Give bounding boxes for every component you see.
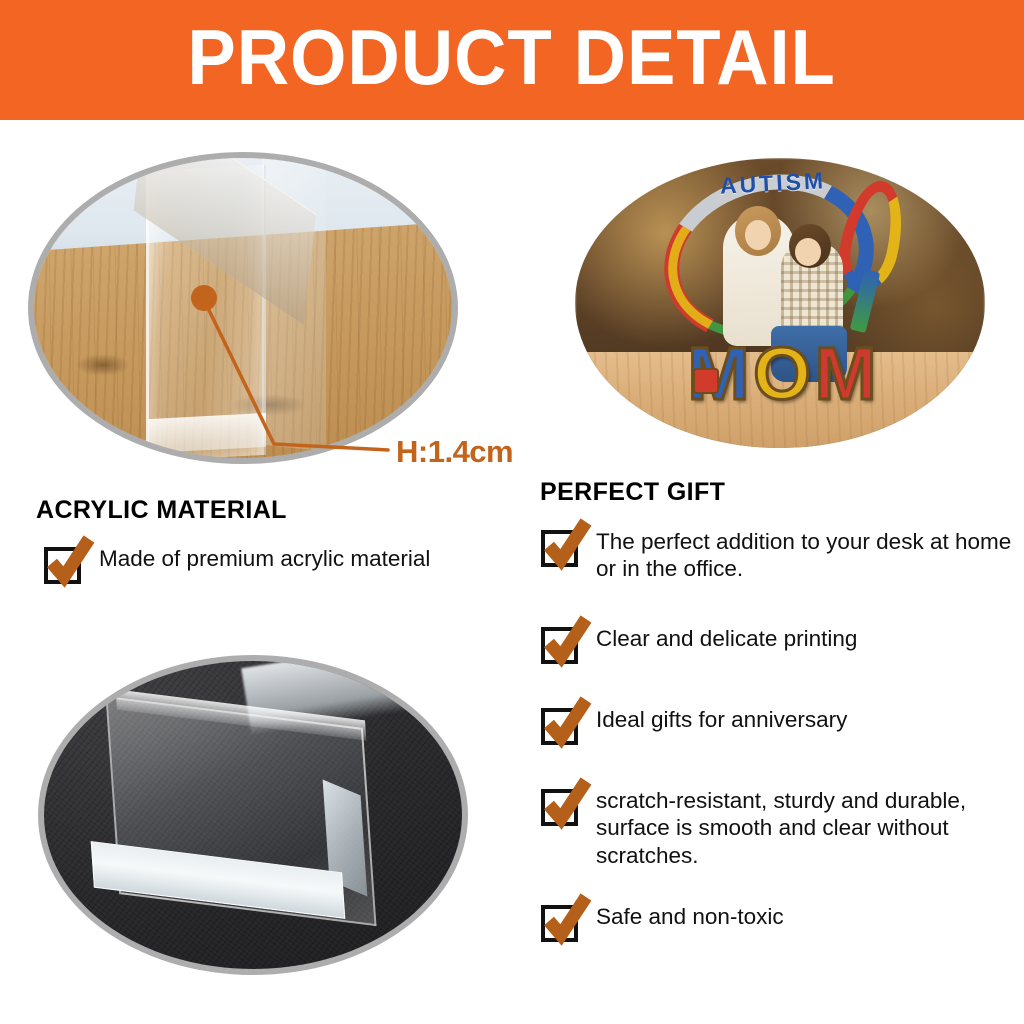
list-item: The perfect addition to your desk at hom…	[541, 528, 1024, 583]
list-item-label: Clear and delicate printing	[596, 625, 857, 652]
checkmark-icon	[540, 615, 594, 667]
product-detail-page: PRODUCT DETAIL H:1.4cm AUTISM	[0, 0, 1024, 1024]
checkbox-checked[interactable]	[541, 789, 578, 826]
photo-acrylic-block	[38, 655, 468, 975]
list-item-label: Safe and non-toxic	[596, 903, 784, 930]
list-item: Clear and delicate printing	[541, 625, 857, 664]
list-item-label: scratch-resistant, sturdy and durable, s…	[596, 787, 1024, 869]
checkmark-icon	[43, 535, 97, 587]
callout-dot	[191, 285, 217, 311]
photo-acrylic-block-inner	[44, 661, 462, 969]
section-heading-perfect-gift: PERFECT GIFT	[540, 478, 725, 507]
photo-acrylic-edge	[28, 152, 458, 464]
checkbox-checked[interactable]	[541, 627, 578, 664]
page-title: PRODUCT DETAIL	[188, 18, 836, 102]
list-item: Ideal gifts for anniversary	[541, 706, 847, 745]
list-item-label: Ideal gifts for anniversary	[596, 706, 847, 733]
acrylic-block-foot	[148, 413, 266, 453]
list-item: scratch-resistant, sturdy and durable, s…	[541, 787, 1024, 869]
list-item-label: Made of premium acrylic material	[99, 545, 430, 572]
checkmark-icon	[540, 777, 594, 829]
checkbox-checked[interactable]	[44, 547, 81, 584]
checkbox-checked[interactable]	[541, 708, 578, 745]
mother-figure-face	[745, 220, 771, 250]
checkbox-checked[interactable]	[541, 530, 578, 567]
checkmark-icon	[540, 518, 594, 570]
checkmark-icon	[540, 893, 594, 945]
height-callout-label: H:1.4cm	[396, 434, 513, 470]
child-figure-face	[795, 238, 821, 266]
header-banner: PRODUCT DETAIL	[0, 0, 1024, 120]
list-item-label: The perfect addition to your desk at hom…	[596, 528, 1024, 583]
puzzle-piece-accent	[693, 368, 719, 394]
mom-letter-2: O	[753, 341, 811, 408]
list-item: Made of premium acrylic material	[44, 545, 430, 584]
checkmark-icon	[540, 696, 594, 748]
mom-letters-group: M O M	[657, 322, 907, 408]
list-item: Safe and non-toxic	[541, 903, 784, 942]
photo-autism-mom-product: AUTISM M O M	[575, 158, 985, 448]
photo-acrylic-edge-inner	[34, 158, 452, 458]
checkbox-checked[interactable]	[541, 905, 578, 942]
mom-letter-3: M	[815, 341, 877, 408]
wood-knot	[76, 354, 130, 376]
section-heading-acrylic-material: ACRYLIC MATERIAL	[36, 496, 287, 525]
